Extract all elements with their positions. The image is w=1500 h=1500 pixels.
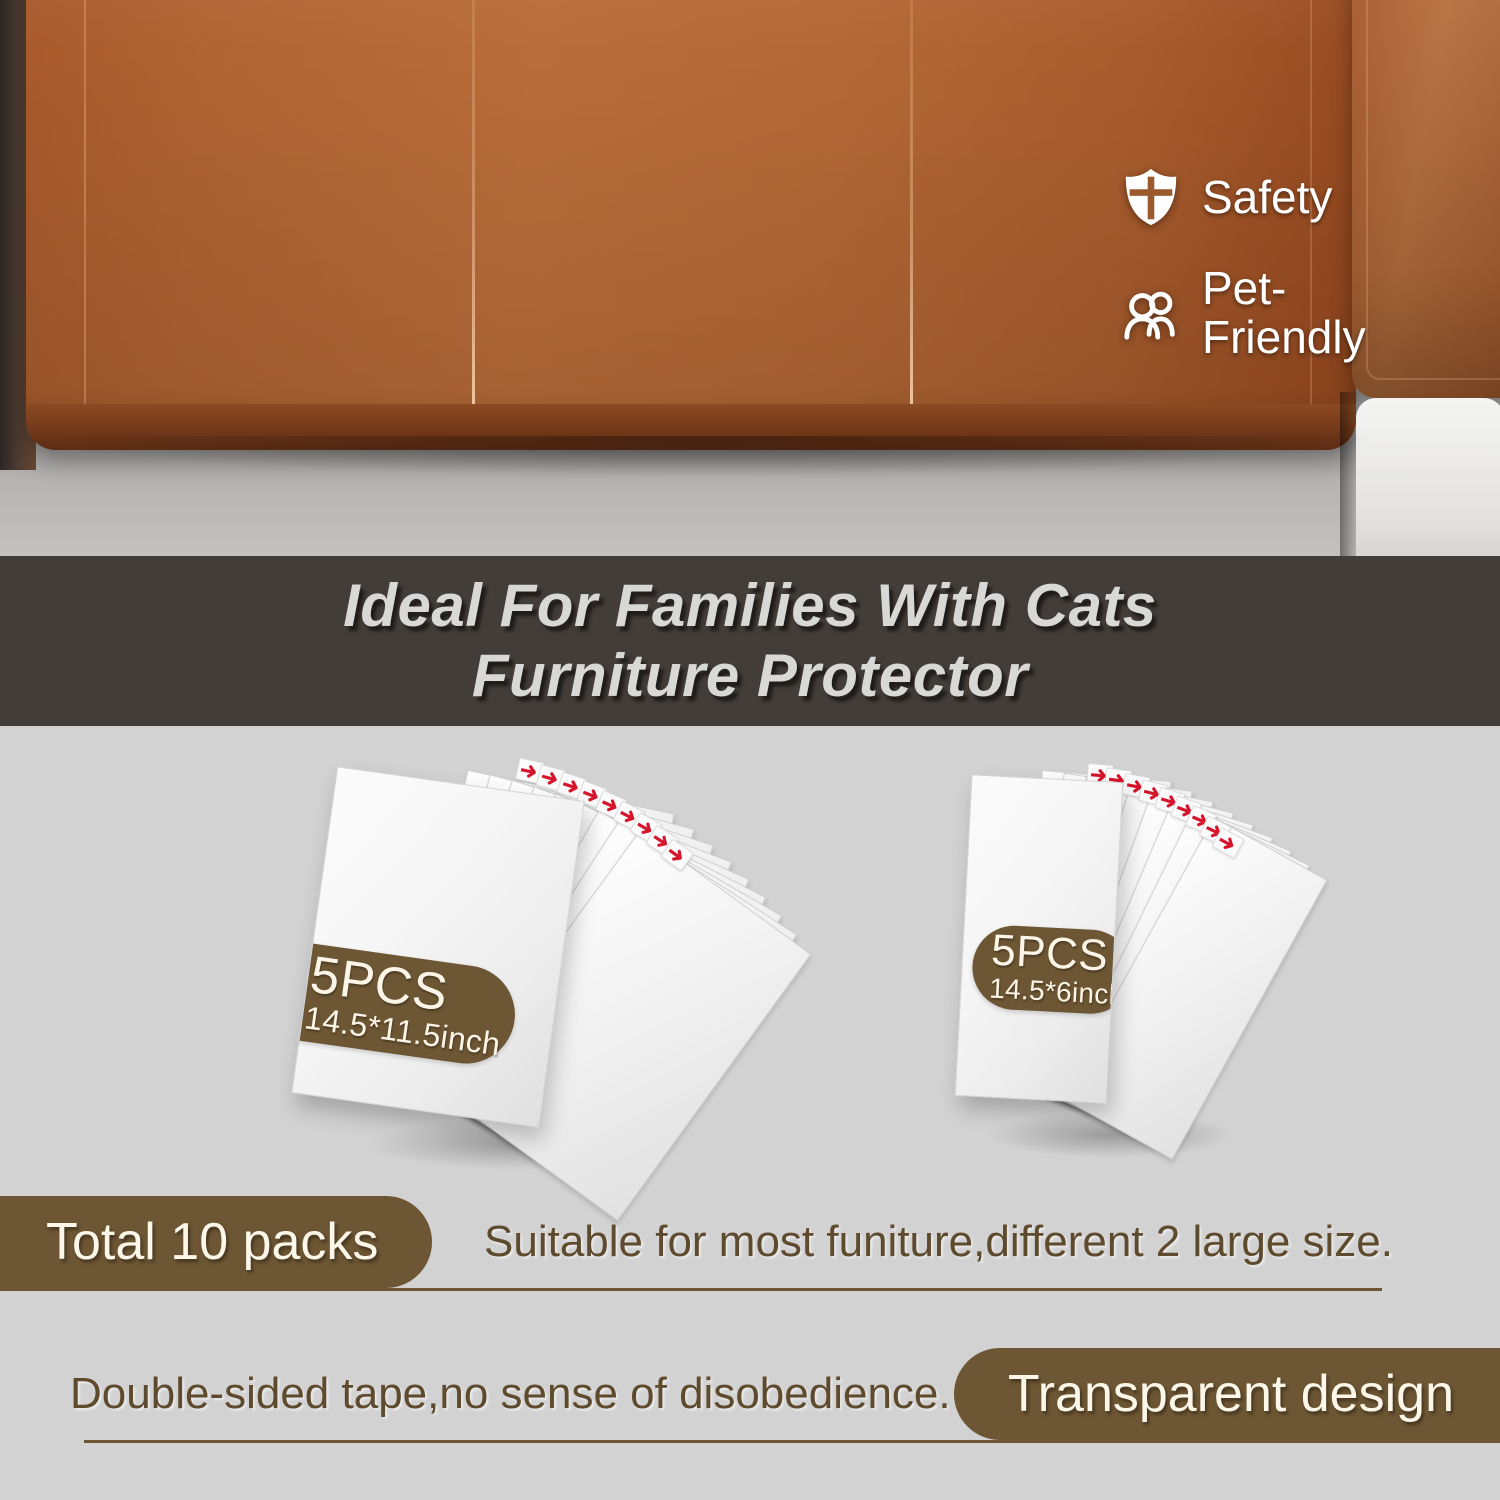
feature-description-1: Suitable for most funiture,different 2 l… <box>484 1196 1393 1288</box>
sofa-seam-left <box>472 0 475 426</box>
feature-row-2: Double-sided tape,no sense of disobedien… <box>0 1348 1500 1440</box>
headline-line-2: Furniture Protector <box>472 641 1028 711</box>
red-arrow-icon <box>1216 832 1240 854</box>
badge-pet-friendly: Pet-Friendly <box>1120 264 1440 362</box>
dimension-narrow: 14.5*6inch <box>989 973 1124 1012</box>
sofa-lifestyle-photo: Safety Pet-Friendly <box>0 0 1500 556</box>
badge-pet-friendly-label: Pet-Friendly <box>1202 264 1402 362</box>
pcs-count-narrow: 5PCS <box>990 929 1123 980</box>
feature-rule-1 <box>0 1288 1382 1291</box>
badge-safety-label: Safety <box>1202 173 1332 222</box>
transparent-design-pill: Transparent design <box>954 1348 1500 1440</box>
product-stack-large: 5PCS 14.5*11.5inch <box>295 746 715 1166</box>
product-stack-narrow: 5PCS 14.5*6inch <box>945 756 1245 1156</box>
total-packs-pill: Total 10 packs <box>0 1196 432 1288</box>
feature-row-1: Total 10 packs Suitable for most funitur… <box>0 1196 1500 1288</box>
product-marketing-image: Safety Pet-Friendly Ideal For Families W… <box>0 0 1500 1500</box>
shield-icon <box>1120 166 1182 228</box>
feature-rule-2 <box>84 1440 1500 1443</box>
headline-line-1: Ideal For Families With Cats <box>343 571 1157 641</box>
front-sheet-large: 5PCS 14.5*11.5inch <box>291 766 584 1128</box>
size-label-large: 5PCS 14.5*11.5inch <box>291 941 521 1070</box>
badge-safety: Safety <box>1120 166 1440 228</box>
product-detail-section: 5PCS 14.5*11.5inch <box>0 726 1500 1500</box>
size-label-narrow: 5PCS 14.5*6inch <box>970 924 1123 1016</box>
sofa-seam-right <box>910 0 913 426</box>
pet-friendly-icon <box>1120 282 1182 344</box>
feature-description-2: Double-sided tape,no sense of disobedien… <box>70 1348 951 1440</box>
feature-badge-list: Safety Pet-Friendly <box>1120 166 1440 398</box>
red-arrow-icon <box>665 843 689 866</box>
sofa-floor-shadow <box>40 436 1370 476</box>
front-sheet-narrow: 5PCS 14.5*6inch <box>955 774 1124 1104</box>
transparent-design-label: Transparent design <box>1008 1368 1454 1420</box>
headline-banner: Ideal For Families With Cats Furniture P… <box>0 556 1500 726</box>
white-furniture-panel <box>1356 398 1500 556</box>
total-packs-label: Total 10 packs <box>46 1216 378 1268</box>
